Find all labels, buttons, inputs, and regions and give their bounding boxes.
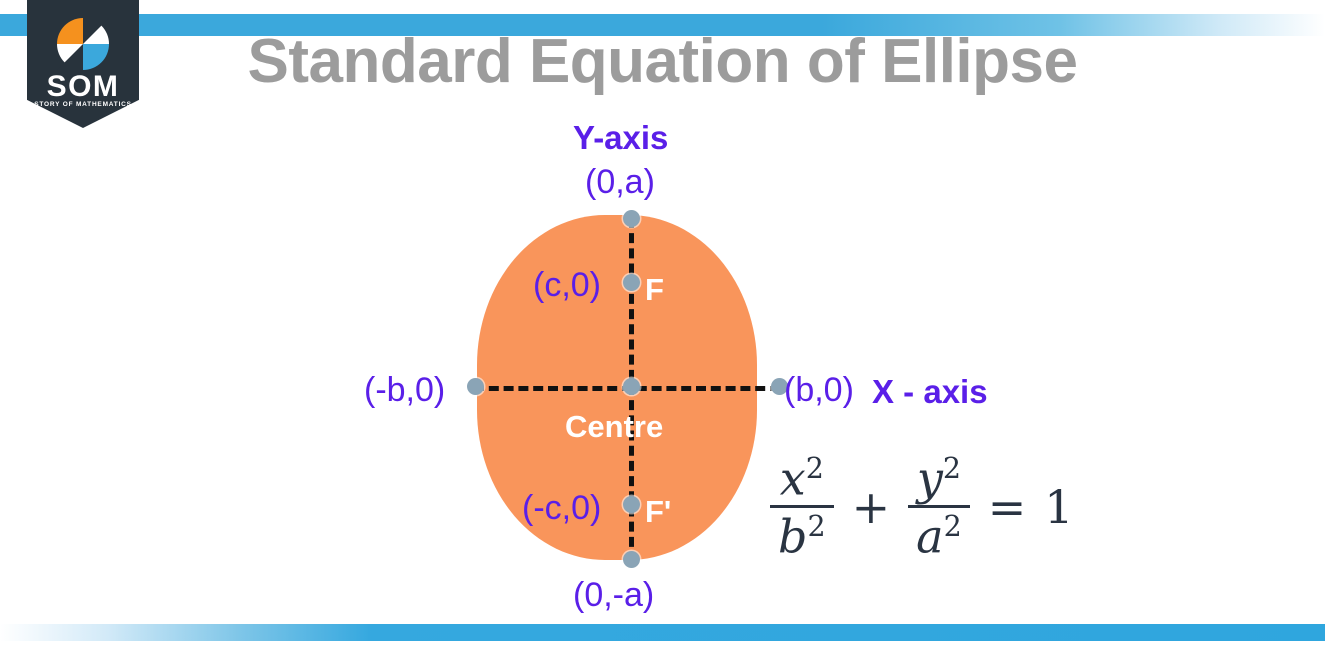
- label-y-axis: Y-axis: [573, 121, 668, 154]
- point-centre: [623, 378, 640, 395]
- fraction-numerator: x2: [772, 455, 832, 505]
- label-focus-lower-name: F': [645, 496, 671, 527]
- operator-equals: =: [988, 480, 1027, 534]
- ellipse-diagram: Y-axis (0,a) (c,0) F (-b,0) (b,0) X - ax…: [0, 0, 1325, 649]
- point-focus-lower: [623, 496, 640, 513]
- fraction-x2-over-b2: x2 b2: [770, 455, 834, 560]
- label-vertex-top: (0,a): [585, 165, 655, 199]
- point-focus-upper: [623, 274, 640, 291]
- label-focus-lower-coord: (-c,0): [522, 491, 601, 525]
- fraction-denominator: b2: [770, 505, 834, 559]
- exp-a: 2: [944, 510, 962, 543]
- equation-rhs: 1: [1044, 480, 1073, 534]
- point-covertex-left: [467, 378, 484, 395]
- fraction-numerator: y2: [909, 455, 969, 505]
- var-a: a: [916, 510, 943, 564]
- operator-plus: +: [852, 480, 891, 534]
- ellipse-standard-equation: x2 b2 + y2 a2 = 1: [770, 455, 1074, 560]
- label-focus-upper-coord: (c,0): [533, 268, 601, 302]
- exp-y: 2: [943, 452, 961, 485]
- var-x: x: [780, 451, 806, 505]
- label-vertex-bottom: (0,-a): [573, 578, 654, 612]
- exp-b: 2: [807, 510, 825, 543]
- var-y: y: [917, 451, 943, 505]
- label-covertex-right: (b,0): [784, 373, 854, 407]
- label-centre: Centre: [565, 411, 663, 442]
- var-b: b: [778, 510, 807, 564]
- fraction-denominator: a2: [908, 505, 970, 559]
- label-x-axis: X - axis: [872, 375, 988, 408]
- slide-canvas: SOM STORY OF MATHEMATICS Standard Equati…: [0, 0, 1325, 649]
- point-vertex-top: [623, 210, 640, 227]
- fraction-y2-over-a2: y2 a2: [908, 455, 970, 560]
- point-vertex-bottom: [623, 551, 640, 568]
- label-covertex-left: (-b,0): [364, 373, 445, 407]
- exp-x: 2: [806, 452, 824, 485]
- label-focus-upper-name: F: [645, 274, 664, 305]
